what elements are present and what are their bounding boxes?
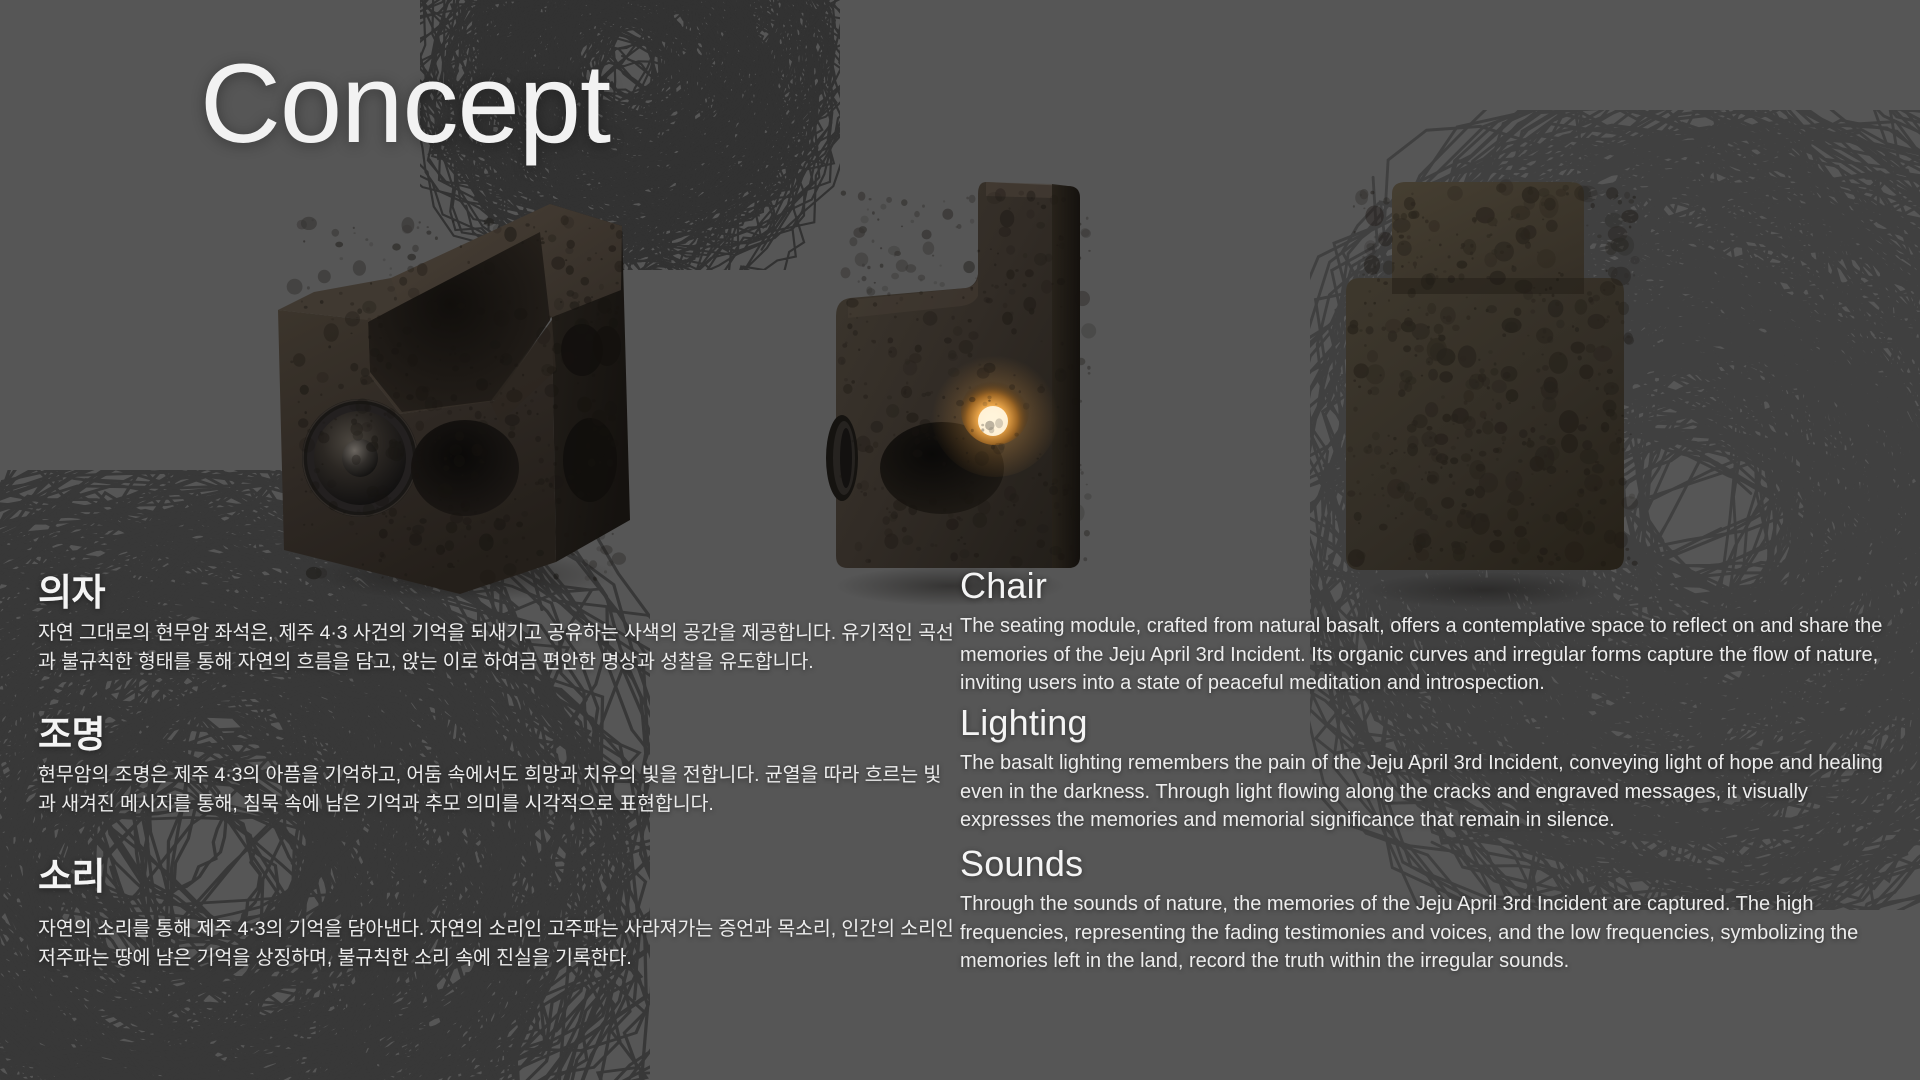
render-chair-rear-view xyxy=(1320,160,1650,610)
section-body-chair-en: The seating module, crafted from natural… xyxy=(960,612,1900,697)
section-body-sounds-en: Through the sounds of nature, the memori… xyxy=(960,890,1900,975)
section-body-sounds-ko: 자연의 소리를 통해 제주 4·3의 기억을 담아낸다. 자연의 소리인 고주파… xyxy=(38,915,958,971)
section-lighting-ko: 조명 현무암의 조명은 제주 4·3의 아픔을 기억하고, 어둠 속에서도 희망… xyxy=(38,714,958,818)
section-heading-chair-en: Chair xyxy=(960,566,1900,606)
speaker-rim-icon xyxy=(826,415,858,501)
section-body-chair-ko: 자연 그대로의 현무암 좌석은, 제주 4·3 사건의 기억을 되새기고 공유하… xyxy=(38,619,958,675)
page-title: Concept xyxy=(200,48,610,160)
section-body-lighting-ko: 현무암의 조명은 제주 4·3의 아픔을 기억하고, 어둠 속에서도 희망과 치… xyxy=(38,761,958,817)
section-chair-en: Chair The seating module, crafted from n… xyxy=(960,566,1900,697)
section-heading-sounds-ko: 소리 xyxy=(38,856,958,897)
render-lighting-side-profile-view xyxy=(790,168,1110,608)
section-heading-lighting-ko: 조명 xyxy=(38,714,958,755)
section-sounds-ko: 소리 자연의 소리를 통해 제주 4·3의 기억을 담아낸다. 자연의 소리인 … xyxy=(38,856,958,972)
description-columns: 의자 자연 그대로의 현무암 좌석은, 제주 4·3 사건의 기억을 되새기고 … xyxy=(0,566,1920,1080)
section-chair-ko: 의자 자연 그대로의 현무암 좌석은, 제주 4·3 사건의 기억을 되새기고 … xyxy=(38,572,958,676)
section-heading-lighting-en: Lighting xyxy=(960,703,1900,743)
section-heading-chair-ko: 의자 xyxy=(38,572,958,613)
render-chair-three-quarter-view xyxy=(250,170,680,600)
section-sounds-en: Sounds Through the sounds of nature, the… xyxy=(960,844,1900,975)
section-body-lighting-en: The basalt lighting remembers the pain o… xyxy=(960,749,1900,834)
render-gallery xyxy=(0,150,1920,610)
section-heading-sounds-en: Sounds xyxy=(960,844,1900,884)
concept-slide: Concept xyxy=(0,0,1920,1080)
section-lighting-en: Lighting The basalt lighting remembers t… xyxy=(960,703,1900,834)
